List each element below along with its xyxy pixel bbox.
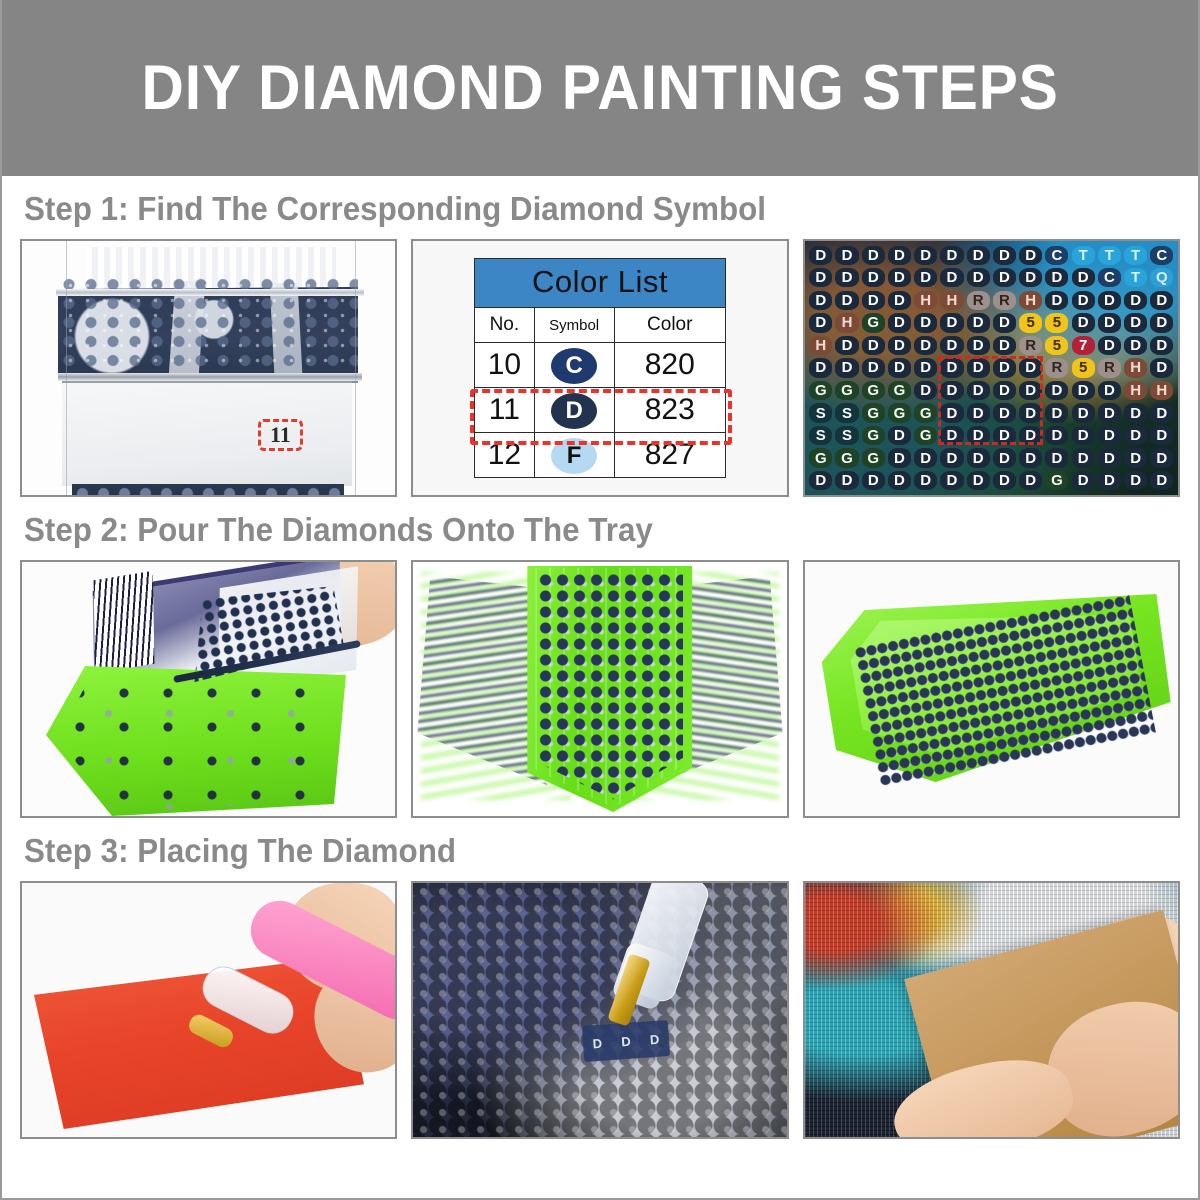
color-list-title-row: Color List (474, 259, 725, 308)
canvas-cell-d: D (1149, 312, 1175, 335)
canvas-cell-d: D (939, 244, 965, 267)
row-color: 827 (614, 433, 725, 478)
canvas-cell-d: D (1044, 402, 1070, 425)
row-no: 11 (474, 388, 534, 433)
canvas-cell-h: H (1123, 379, 1149, 402)
canvas-cell-r: R (1096, 357, 1122, 380)
canvas-cell-d: D (991, 357, 1017, 380)
bag-white-label (62, 381, 352, 486)
canvas-cell-g: G (808, 447, 834, 470)
canvas-cell-d: D (886, 244, 912, 267)
column-header-color: Color (614, 308, 725, 343)
canvas-cell-r: R (965, 289, 991, 312)
row-no: 12 (474, 433, 534, 478)
canvas-cell-d: D (965, 469, 991, 492)
canvas-cell-g: G (860, 312, 886, 335)
canvas-cell-d: D (886, 267, 912, 290)
canvas-cell-d: D (1096, 312, 1122, 335)
canvas-cell-d: D (939, 312, 965, 335)
column-header-symbol: Symbol (534, 308, 614, 343)
color-list-table: Color List No. Symbol Color 10 C (474, 258, 726, 478)
canvas-cell-d: D (886, 334, 912, 357)
canvas-cell-d: D (860, 469, 886, 492)
page-title: DIY DIAMOND PAINTING STEPS (141, 52, 1058, 124)
canvas-cell-d: D (1096, 379, 1122, 402)
row-no: 10 (474, 343, 534, 388)
canvas-cell-d: D (886, 289, 912, 312)
uncovered-canvas-cells: D D D (582, 1020, 670, 1062)
pen-wax-pad-photo (20, 881, 397, 1139)
canvas-cell-d: D (860, 267, 886, 290)
canvas-cell-d: D (1070, 289, 1096, 312)
tray-diamonds (537, 572, 683, 804)
canvas-cell-d: D (834, 244, 860, 267)
canvas-cell-d: D (965, 379, 991, 402)
canvas-cell-d: D (1123, 289, 1149, 312)
canvas-cell-d: D (834, 469, 860, 492)
canvas-cell-d: D (1149, 402, 1175, 425)
table-row: 10 C 820 (474, 343, 725, 388)
cell-symbol-d: D (650, 1031, 660, 1047)
step-1-heading: Step 1: Find The Corresponding Diamond S… (24, 190, 1122, 228)
canvas-cell-g: G (913, 424, 939, 447)
canvas-cell-d: D (991, 469, 1017, 492)
row-symbol: D (534, 388, 614, 433)
canvas-cell-d: D (808, 267, 834, 290)
shake-tray-photo (411, 560, 788, 818)
canvas-cell-d: D (913, 244, 939, 267)
canvas-cell-d: D (913, 447, 939, 470)
canvas-cell-d: D (991, 379, 1017, 402)
canvas-cell-d: D (965, 424, 991, 447)
canvas-cell-d: D (1044, 267, 1070, 290)
canvas-cell-d: D (1044, 447, 1070, 470)
canvas-cell-d: D (1149, 357, 1175, 380)
canvas-cell-t: T (1096, 244, 1122, 267)
canvas-cell-s: S (808, 402, 834, 425)
canvas-cell-d: D (965, 402, 991, 425)
canvas-cell-d: D (939, 424, 965, 447)
canvas-cell-r: R (991, 289, 1017, 312)
canvas-cell-d: D (991, 312, 1017, 335)
canvas-cell-d: D (1096, 469, 1122, 492)
canvas-cell-d: D (913, 312, 939, 335)
step-2-heading: Step 2: Pour The Diamonds Onto The Tray (24, 511, 1122, 549)
canvas-cell-d: D (965, 244, 991, 267)
canvas-cell-d: D (834, 289, 860, 312)
row-color: 820 (614, 343, 725, 388)
step-1-section: Step 1: Find The Corresponding Diamond S… (20, 190, 1180, 497)
step-3-image-row: D D D Note Bo (20, 881, 1180, 1139)
canvas-cell-g: G (808, 379, 834, 402)
cell-symbol-d: D (621, 1033, 631, 1049)
canvas-cell-d: D (1070, 424, 1096, 447)
canvas-cell-d: D (1123, 334, 1149, 357)
canvas-cell-d: D (1070, 267, 1096, 290)
row-color: 823 (614, 388, 725, 433)
step-3-heading: Step 3: Placing The Diamond (24, 832, 1122, 870)
canvas-cell-c: C (1044, 244, 1070, 267)
canvas-cell-d: D (886, 447, 912, 470)
canvas-cell-h: H (808, 334, 834, 357)
canvas-cell-d: D (913, 334, 939, 357)
notebook-press-photo: Note Book (803, 881, 1180, 1139)
canvas-cell-5: 5 (1070, 357, 1096, 380)
canvas-cell-q: Q (1149, 267, 1175, 290)
canvas-cell-d: D (834, 357, 860, 380)
pour-bag-into-tray-photo (20, 560, 397, 818)
bag-number-badge: 11 (258, 419, 303, 451)
canvas-cell-d: D (1096, 402, 1122, 425)
canvas-cell-d: D (1018, 402, 1044, 425)
canvas-cell-t: T (1123, 267, 1149, 290)
canvas-cell-d: D (1123, 402, 1149, 425)
canvas-cell-d: D (991, 424, 1017, 447)
canvas-cell-d: D (1044, 424, 1070, 447)
canvas-cell-g: G (1044, 469, 1070, 492)
canvas-cell-h: H (1149, 379, 1175, 402)
zip-bag-barcode (94, 571, 155, 673)
canvas-cell-d: D (913, 379, 939, 402)
step-2-section: Step 2: Pour The Diamonds Onto The Tray (20, 511, 1180, 818)
step-2-image-row (20, 560, 1180, 818)
canvas-cell-d: D (1149, 334, 1175, 357)
canvas-cell-d: D (1018, 244, 1044, 267)
canvas-cell-g: G (860, 402, 886, 425)
canvas-cell-d: D (808, 469, 834, 492)
canvas-cell-d: D (991, 244, 1017, 267)
step-3-section: Step 3: Placing The Diamond (20, 832, 1180, 1139)
canvas-cell-d: D (1149, 469, 1175, 492)
canvas-cell-r: R (1018, 334, 1044, 357)
canvas-cell-d: D (965, 357, 991, 380)
coded-canvas-photo: DDDDDDDDDCTTTCDDDDDDDDDDDCTQDDDDHHRRHDDD… (803, 239, 1180, 497)
canvas-cell-d: D (860, 334, 886, 357)
canvas-cell-d: D (939, 379, 965, 402)
table-row: 12 F 827 (474, 433, 725, 478)
placed-diamonds-texture (413, 883, 786, 1137)
row-symbol: C (534, 343, 614, 388)
canvas-cell-s: S (834, 402, 860, 425)
canvas-cell-d: D (939, 447, 965, 470)
poster-root: DIY DIAMOND PAINTING STEPS Step 1: Find … (0, 0, 1200, 1200)
canvas-cell-d: D (1070, 379, 1096, 402)
canvas-cell-d: D (860, 244, 886, 267)
canvas-cell-g: G (834, 379, 860, 402)
bag-under-diamonds (72, 484, 344, 495)
canvas-cell-d: D (939, 357, 965, 380)
canvas-cell-d: D (1070, 402, 1096, 425)
bag-top-seam (56, 289, 364, 296)
canvas-cell-d: D (1149, 447, 1175, 470)
canvas-cell-d: D (965, 312, 991, 335)
cell-symbol-d: D (593, 1035, 603, 1051)
canvas-cell-g: G (860, 447, 886, 470)
canvas-cell-d: D (834, 334, 860, 357)
canvas-cell-d: D (1018, 267, 1044, 290)
canvas-cell-d: D (1123, 312, 1149, 335)
poster-content: Step 1: Find The Corresponding Diamond S… (2, 190, 1198, 1139)
table-row: 11 D 823 (474, 388, 725, 433)
canvas-cell-d: D (886, 357, 912, 380)
diamond-bag-photo: 11 (20, 239, 397, 497)
canvas-cell-h: H (834, 312, 860, 335)
canvas-cell-d: D (939, 402, 965, 425)
canvas-cell-d: D (991, 447, 1017, 470)
canvas-cell-h: H (939, 289, 965, 312)
canvas-symbol-grid: DDDDDDDDDCTTTCDDDDDDDDDDDCTQDDDDHHRRHDDD… (808, 244, 1175, 492)
canvas-cell-d: D (1018, 357, 1044, 380)
canvas-cell-d: D (965, 267, 991, 290)
canvas-cell-r: R (1044, 357, 1070, 380)
canvas-cell-g: G (886, 379, 912, 402)
color-list-header-row: No. Symbol Color (474, 308, 725, 343)
canvas-cell-5: 5 (1018, 312, 1044, 335)
canvas-cell-h: H (1018, 289, 1044, 312)
canvas-cell-d: D (1123, 447, 1149, 470)
canvas-cell-d: D (808, 357, 834, 380)
canvas-cell-d: D (939, 334, 965, 357)
canvas-cell-d: D (1096, 334, 1122, 357)
canvas-cell-d: D (834, 267, 860, 290)
bag-bottom-seam (58, 373, 362, 381)
canvas-cell-d: D (860, 357, 886, 380)
aligned-diamonds-tray-photo (803, 560, 1180, 818)
canvas-cell-d: D (1149, 289, 1175, 312)
canvas-cell-d: D (1070, 469, 1096, 492)
canvas-cell-d: D (886, 424, 912, 447)
canvas-cell-d: D (1123, 424, 1149, 447)
canvas-cell-d: D (1096, 447, 1122, 470)
canvas-cell-d: D (1018, 447, 1044, 470)
canvas-cell-5: 5 (1044, 312, 1070, 335)
canvas-cell-d: D (1070, 447, 1096, 470)
canvas-cell-d: D (913, 267, 939, 290)
canvas-cell-d: D (991, 402, 1017, 425)
canvas-cell-h: H (1123, 357, 1149, 380)
canvas-cell-d: D (1070, 312, 1096, 335)
canvas-cell-d: D (886, 312, 912, 335)
canvas-cell-t: T (1123, 244, 1149, 267)
canvas-cell-d: D (939, 469, 965, 492)
canvas-cell-d: D (965, 334, 991, 357)
canvas-cell-d: D (1018, 379, 1044, 402)
canvas-cell-c: C (1149, 244, 1175, 267)
step-1-image-row: 11 Color List No. (20, 239, 1180, 497)
poster-header: DIY DIAMOND PAINTING STEPS (2, 0, 1198, 176)
color-list-table-photo: Color List No. Symbol Color 10 C (411, 239, 788, 497)
canvas-cell-d: D (886, 469, 912, 492)
canvas-cell-d: D (1096, 424, 1122, 447)
canvas-cell-d: D (808, 312, 834, 335)
canvas-cell-d: D (860, 289, 886, 312)
canvas-cell-d: D (1044, 289, 1070, 312)
canvas-cell-d: D (1096, 289, 1122, 312)
canvas-cell-g: G (860, 379, 886, 402)
canvas-cell-c: C (1096, 267, 1122, 290)
canvas-cell-d: D (1018, 424, 1044, 447)
canvas-cell-d: D (1149, 424, 1175, 447)
canvas-cell-5: 5 (1044, 334, 1070, 357)
color-list-title: Color List (474, 259, 725, 308)
canvas-cell-7: 7 (1070, 334, 1096, 357)
canvas-cell-d: D (913, 357, 939, 380)
canvas-cell-d: D (965, 447, 991, 470)
canvas-cell-d: D (991, 267, 1017, 290)
canvas-cell-d: D (1123, 469, 1149, 492)
canvas-cell-d: D (991, 334, 1017, 357)
canvas-cell-h: H (913, 289, 939, 312)
canvas-cell-t: T (1070, 244, 1096, 267)
canvas-cell-d: D (1044, 379, 1070, 402)
canvas-cell-d: D (808, 244, 834, 267)
canvas-cell-g: G (886, 402, 912, 425)
canvas-cell-d: D (1018, 469, 1044, 492)
canvas-cell-s: S (808, 424, 834, 447)
canvas-cell-d: D (939, 267, 965, 290)
canvas-cell-s: S (834, 424, 860, 447)
canvas-cell-g: G (834, 447, 860, 470)
canvas-cell-g: G (913, 402, 939, 425)
canvas-cell-d: D (808, 289, 834, 312)
canvas-cell-d: D (913, 469, 939, 492)
column-header-no: No. (474, 308, 534, 343)
row-symbol: F (534, 433, 614, 478)
pen-placing-diamond-photo: D D D (411, 881, 788, 1139)
canvas-cell-g: G (860, 424, 886, 447)
